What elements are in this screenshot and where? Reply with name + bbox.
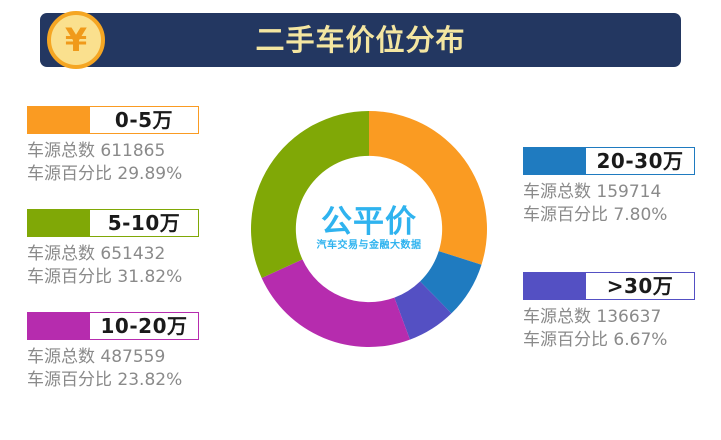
legend-swatch-icon [28,107,90,133]
legend-label: 5-10万 [90,210,198,236]
legend-label: 20-30万 [586,148,694,174]
legend-swatch-icon [28,210,90,236]
legend-count: 车源总数 159714 [523,181,719,204]
legend-stats: 车源总数 487559 车源百分比 23.82% [27,346,223,392]
legend-label: >30万 [586,273,694,299]
donut-chart: 公平价 汽车交易与金融大数据 [248,108,490,350]
legend-item-20-30[interactable]: 20-30万 车源总数 159714 车源百分比 7.80% [523,147,719,227]
legend-count: 车源总数 611865 [27,140,223,163]
legend-head: 0-5万 [27,106,199,134]
legend-percent: 车源百分比 6.67% [523,329,719,352]
legend-item-10-20[interactable]: 10-20万 车源总数 487559 车源百分比 23.82% [27,312,223,392]
page-title: 二手车价位分布 [40,13,681,67]
legend-swatch-icon [524,148,586,174]
legend-percent: 车源百分比 23.82% [27,369,223,392]
legend-percent: 车源百分比 29.89% [27,163,223,186]
legend-head: 20-30万 [523,147,695,175]
donut-slice-0-5万[interactable] [369,111,487,265]
header-bar: 二手车价位分布 [40,13,681,67]
legend-percent: 车源百分比 7.80% [523,204,719,227]
legend-swatch-icon [524,273,586,299]
legend-stats: 车源总数 159714 车源百分比 7.80% [523,181,719,227]
legend-head: 10-20万 [27,312,199,340]
legend-label: 10-20万 [90,313,198,339]
legend-count: 车源总数 651432 [27,243,223,266]
yen-coin-icon: ¥ [47,11,105,69]
legend-percent: 车源百分比 31.82% [27,266,223,289]
legend-count: 车源总数 136637 [523,306,719,329]
donut-slice-5-10万[interactable] [251,111,369,278]
legend-head: 5-10万 [27,209,199,237]
legend-label: 0-5万 [90,107,198,133]
donut-slice-10-20万[interactable] [262,259,410,347]
legend-swatch-icon [28,313,90,339]
yen-symbol: ¥ [51,15,101,65]
legend-item-over-30[interactable]: >30万 车源总数 136637 车源百分比 6.67% [523,272,719,352]
legend-stats: 车源总数 136637 车源百分比 6.67% [523,306,719,352]
legend-head: >30万 [523,272,695,300]
donut-chart-svg [248,108,490,350]
legend-count: 车源总数 487559 [27,346,223,369]
legend-item-5-10[interactable]: 5-10万 车源总数 651432 车源百分比 31.82% [27,209,223,289]
legend-item-0-5[interactable]: 0-5万 车源总数 611865 车源百分比 29.89% [27,106,223,186]
legend-stats: 车源总数 651432 车源百分比 31.82% [27,243,223,289]
legend-stats: 车源总数 611865 车源百分比 29.89% [27,140,223,186]
